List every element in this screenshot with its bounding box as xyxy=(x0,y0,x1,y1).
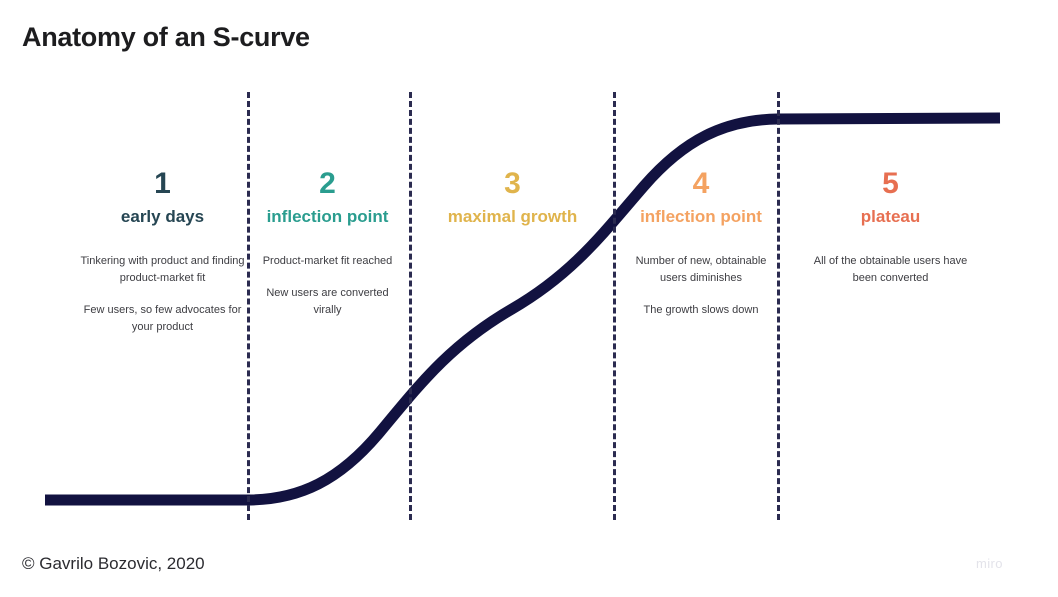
stage-number: 5 xyxy=(808,168,973,200)
stage-description: All of the obtainable users have been co… xyxy=(808,253,973,287)
miro-watermark: miro xyxy=(976,556,1003,571)
stage-number: 1 xyxy=(75,168,250,200)
stage-number: 3 xyxy=(425,168,600,200)
stage-paragraph: All of the obtainable users have been co… xyxy=(808,253,973,287)
stage-name: inflection point xyxy=(622,206,780,228)
s-curve-diagram: Anatomy of an S-curve 1 early days Tinke… xyxy=(0,0,1058,597)
stage-description: Tinkering with product and finding produ… xyxy=(75,253,250,336)
stage-name: inflection point xyxy=(256,206,399,228)
stage-name: plateau xyxy=(808,206,973,228)
stage-paragraph: The growth slows down xyxy=(622,302,780,319)
stage-number: 2 xyxy=(256,168,399,200)
stage-description: Number of new, obtainable users diminish… xyxy=(622,253,780,319)
stage-number: 4 xyxy=(622,168,780,200)
stage-paragraph: Number of new, obtainable users diminish… xyxy=(622,253,780,287)
stage-maximal-growth: 3 maximal growth xyxy=(425,168,600,227)
stage-divider-2 xyxy=(409,92,412,520)
stage-description: Product-market fit reached New users are… xyxy=(256,253,399,319)
stage-paragraph: Product-market fit reached xyxy=(256,253,399,270)
stage-paragraph: New users are converted virally xyxy=(256,285,399,319)
stage-name: maximal growth xyxy=(425,206,600,228)
stage-inflection-point-2: 2 inflection point Product-market fit re… xyxy=(256,168,399,319)
stage-paragraph: Few users, so few advocates for your pro… xyxy=(75,302,250,336)
stage-inflection-point-4: 4 inflection point Number of new, obtain… xyxy=(622,168,780,319)
stage-plateau: 5 plateau All of the obtainable users ha… xyxy=(808,168,973,287)
copyright-credit: © Gavrilo Bozovic, 2020 xyxy=(22,554,205,574)
stage-paragraph: Tinkering with product and finding produ… xyxy=(75,253,250,287)
stage-divider-3 xyxy=(613,92,616,520)
stage-early-days: 1 early days Tinkering with product and … xyxy=(75,168,250,336)
stage-name: early days xyxy=(75,206,250,228)
